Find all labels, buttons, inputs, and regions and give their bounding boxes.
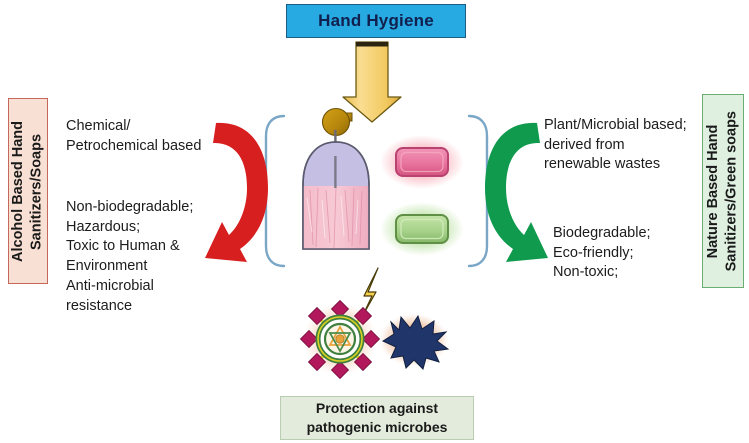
green-soap-bar-icon xyxy=(380,202,464,256)
outcome-line-2: pathogenic microbes xyxy=(307,418,448,437)
left-note-top: Chemical/ Petrochemical based xyxy=(66,117,216,156)
pink-soap-bar-icon xyxy=(380,135,464,189)
down-arrow-icon xyxy=(343,42,401,122)
pump-head-icon xyxy=(323,109,353,157)
left-category-label: Alcohol Based Hand Sanitizers/Soaps xyxy=(9,121,46,262)
left-category-box: Alcohol Based Hand Sanitizers/Soaps xyxy=(8,98,48,284)
bracket-icon xyxy=(266,116,487,266)
right-note-bottom: Biodegradable; Eco-friendly; Non-toxic; xyxy=(553,224,713,283)
right-curved-arrow-icon xyxy=(485,123,548,262)
diagram-canvas: Hand Hygiene Alcohol Based Hand Sanitize… xyxy=(0,0,749,443)
sanitizer-bottle-illustration xyxy=(303,109,369,250)
hand-hygiene-title-box: Hand Hygiene xyxy=(286,4,466,38)
hand-hygiene-label: Hand Hygiene xyxy=(318,11,434,31)
outcome-line-1: Protection against xyxy=(316,399,438,418)
outcome-box: Protection against pathogenic microbes xyxy=(280,396,474,440)
lightning-bolt-icon xyxy=(362,268,378,317)
left-note-bottom: Non-biodegradable; Hazardous; Toxic to H… xyxy=(66,198,216,316)
impact-burst-icon xyxy=(380,314,448,369)
virus-particle-icon xyxy=(301,301,380,379)
right-note-top: Plant/Microbial based; derived from rene… xyxy=(544,116,709,175)
